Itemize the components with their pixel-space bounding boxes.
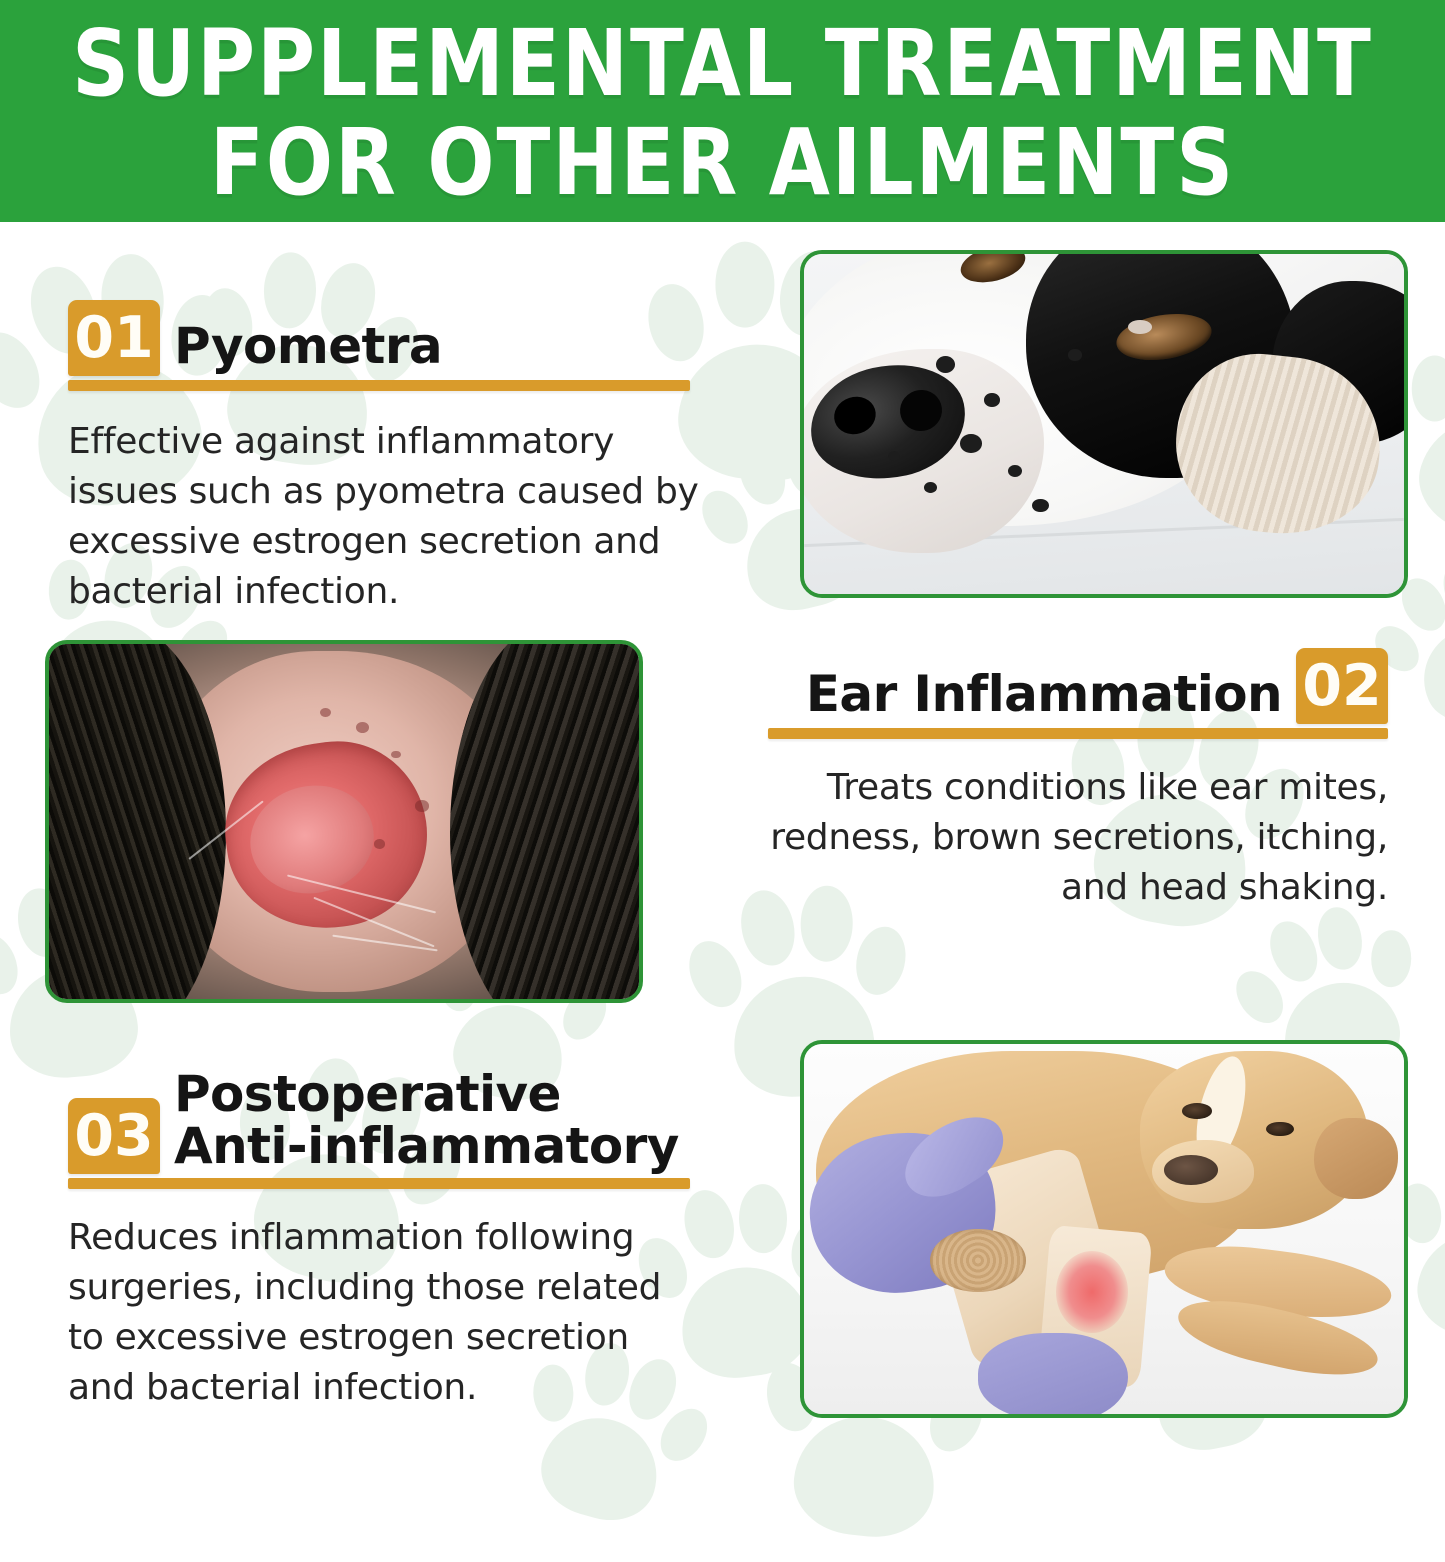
section-03-title: Postoperative Anti-inflammatory	[160, 1068, 679, 1174]
section-03-title-line-2: Anti-inflammatory	[174, 1120, 679, 1172]
banner-title-line-1: SUPPLEMENTAL TREATMENT	[0, 14, 1445, 114]
section-02-photo-frame	[45, 640, 643, 1003]
section-03: 03 Postoperative Anti-inflammatory Reduc…	[68, 1068, 708, 1413]
section-01-number-badge: 01	[68, 300, 160, 376]
section-03-body-text: Reduces inflammation following surgeries…	[68, 1213, 668, 1413]
section-03-heading-row: 03 Postoperative Anti-inflammatory	[68, 1068, 708, 1174]
labrador-bandage-photo	[804, 1044, 1404, 1414]
section-03-photo-frame	[800, 1040, 1408, 1418]
section-02-title: Ear Inflammation	[806, 666, 1296, 724]
spaniel-photo	[804, 254, 1404, 594]
section-01-photo-frame	[800, 250, 1408, 598]
banner-title-line-2: FOR OTHER AILMENTS	[0, 113, 1445, 213]
section-02: Ear Inflammation 02 Treats conditions li…	[768, 648, 1388, 913]
section-03-underline-rule	[68, 1178, 690, 1189]
section-03-title-line-1: Postoperative	[174, 1068, 679, 1120]
section-01-underline-rule	[68, 380, 690, 391]
section-03-number-badge: 03	[68, 1098, 160, 1174]
section-02-number-badge: 02	[1296, 648, 1388, 724]
section-01-heading-row: 01 Pyometra	[68, 300, 708, 376]
section-02-body-text: Treats conditions like ear mites, rednes…	[768, 763, 1388, 913]
section-02-underline-rule	[768, 728, 1388, 739]
section-01: 01 Pyometra Effective against inflammato…	[68, 300, 708, 617]
inflamed-ear-photo	[49, 644, 639, 999]
section-01-title: Pyometra	[160, 318, 442, 376]
section-02-heading-row: Ear Inflammation 02	[768, 648, 1388, 724]
header-banner: SUPPLEMENTAL TREATMENT FOR OTHER AILMENT…	[0, 0, 1445, 222]
section-01-body-text: Effective against inflammatory issues su…	[68, 417, 708, 617]
